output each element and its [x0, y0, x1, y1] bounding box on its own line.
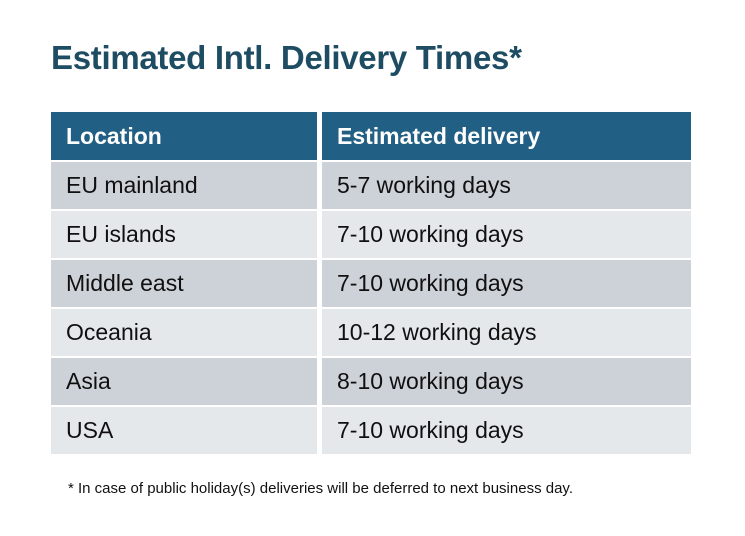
cell-location: Asia [51, 358, 317, 405]
table-row: Asia 8-10 working days [51, 358, 691, 405]
page-title: Estimated Intl. Delivery Times* [51, 36, 522, 80]
column-header-estimated-delivery: Estimated delivery [322, 112, 691, 160]
table-row: Middle east 7-10 working days [51, 260, 691, 307]
table-row: EU islands 7-10 working days [51, 211, 691, 258]
table-row: USA 7-10 working days [51, 407, 691, 454]
delivery-times-table: Location Estimated delivery EU mainland … [51, 112, 691, 454]
cell-estimated-delivery: 7-10 working days [322, 407, 691, 454]
column-header-location: Location [51, 112, 317, 160]
table-row: EU mainland 5-7 working days [51, 162, 691, 209]
table-header-row: Location Estimated delivery [51, 112, 691, 160]
cell-location: EU islands [51, 211, 317, 258]
cell-estimated-delivery: 8-10 working days [322, 358, 691, 405]
cell-estimated-delivery: 10-12 working days [322, 309, 691, 356]
cell-location: Middle east [51, 260, 317, 307]
delivery-times-page: Estimated Intl. Delivery Times* Location… [0, 0, 745, 536]
cell-location: Oceania [51, 309, 317, 356]
table-row: Oceania 10-12 working days [51, 309, 691, 356]
cell-estimated-delivery: 7-10 working days [322, 260, 691, 307]
cell-location: EU mainland [51, 162, 317, 209]
cell-location: USA [51, 407, 317, 454]
footnote: * In case of public holiday(s) deliverie… [68, 479, 573, 499]
cell-estimated-delivery: 5-7 working days [322, 162, 691, 209]
cell-estimated-delivery: 7-10 working days [322, 211, 691, 258]
